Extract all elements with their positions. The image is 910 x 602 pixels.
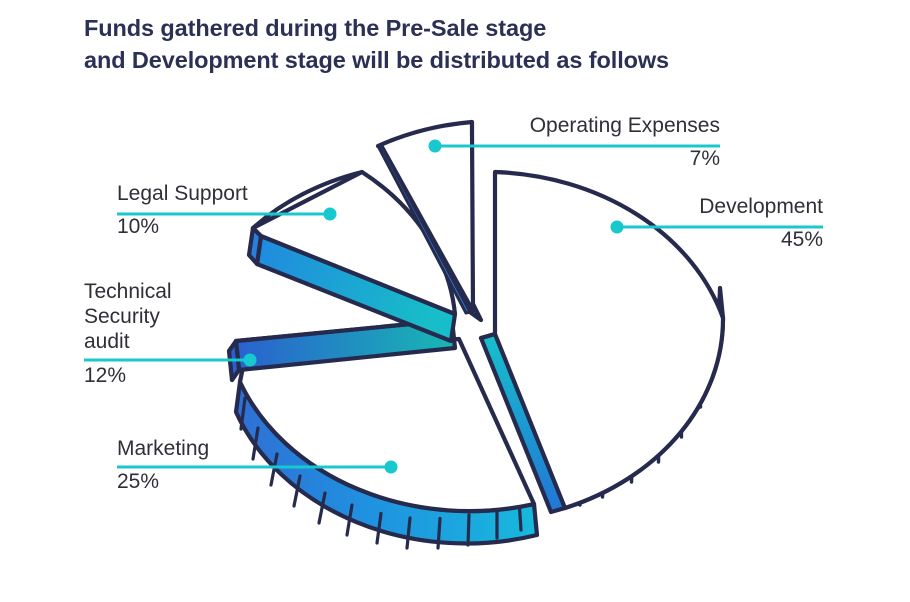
label-development-name: Development [699, 195, 823, 218]
label-technical-security-pct: 12% [84, 363, 172, 388]
label-legal-support-name: Legal Support [117, 182, 248, 205]
label-operating-expenses: Operating Expenses 7% [420, 113, 720, 171]
label-technical-security-line-1: Technical [84, 280, 172, 303]
label-technical-security-line-3: audit [84, 330, 130, 353]
label-legal-support-pct: 10% [117, 214, 248, 239]
label-marketing-name: Marketing [117, 437, 209, 460]
label-operating-expenses-name: Operating Expenses [530, 114, 720, 137]
label-legal-support: Legal Support 10% [117, 181, 248, 239]
label-marketing: Marketing 25% [117, 436, 209, 494]
label-development-pct: 45% [523, 227, 823, 252]
label-operating-expenses-pct: 7% [420, 146, 720, 171]
label-marketing-pct: 25% [117, 469, 209, 494]
label-development: Development 45% [523, 194, 823, 252]
label-technical-security-audit: Technical Security audit 12% [84, 279, 172, 388]
infographic-canvas: Funds gathered during the Pre-Sale stage… [0, 0, 910, 602]
label-technical-security-line-2: Security [84, 305, 160, 328]
